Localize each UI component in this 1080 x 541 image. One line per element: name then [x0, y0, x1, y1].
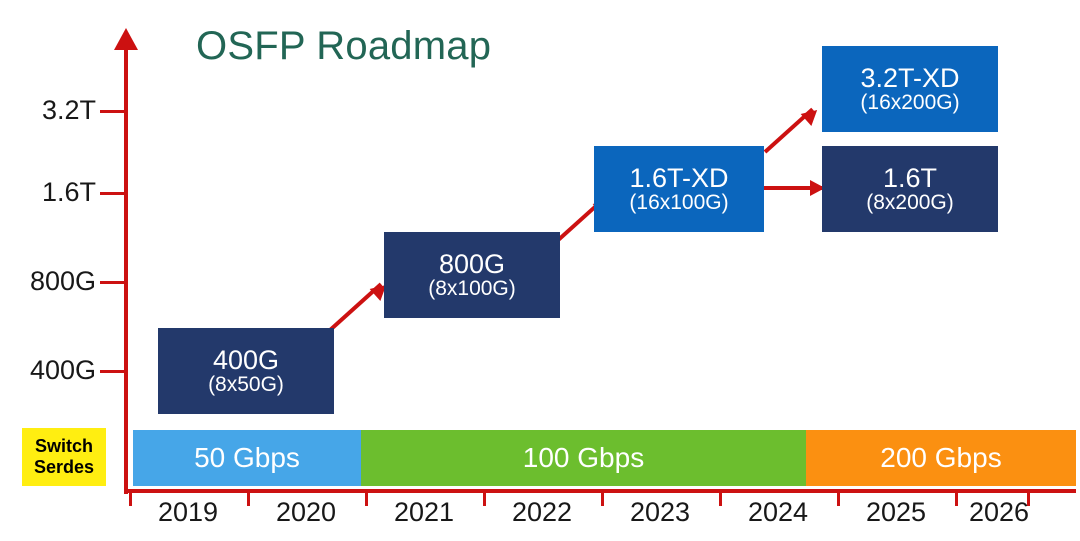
node-800g-subtitle: (8x100G): [428, 278, 516, 300]
y-label-1600: 1.6T: [42, 177, 96, 208]
node-box-1-6t-xd[interactable]: 1.6T-XD (16x100G): [594, 146, 764, 232]
node-400g-title: 400G: [213, 346, 279, 374]
node-1-6t-subtitle: (8x200G): [866, 192, 954, 214]
serdes-segment-200gbps[interactable]: 200 Gbps: [806, 430, 1076, 486]
switch-serdes-label: Switch Serdes: [22, 428, 106, 486]
node-1-6t-xd-title: 1.6T-XD: [629, 164, 728, 192]
node-400g-subtitle: (8x50G): [208, 374, 284, 396]
y-tick-400: [100, 370, 126, 373]
node-box-3-2t-xd[interactable]: 3.2T-XD (16x200G): [822, 46, 998, 132]
y-tick-1600: [100, 192, 126, 195]
x-label-2024: 2024: [719, 497, 837, 528]
y-axis-line: [124, 46, 128, 494]
x-label-2019: 2019: [129, 497, 247, 528]
switch-serdes-line2: Serdes: [34, 457, 94, 478]
node-3-2t-xd-subtitle: (16x200G): [860, 92, 959, 114]
node-1-6t-title: 1.6T: [883, 164, 937, 192]
y-label-400: 400G: [30, 355, 96, 386]
node-box-800g[interactable]: 800G (8x100G): [384, 232, 560, 318]
serdes-segment-200gbps-label: 200 Gbps: [880, 442, 1001, 474]
arrow-1-6txd-to-3-2txd-head: [801, 104, 823, 126]
y-label-800: 800G: [30, 266, 96, 297]
x-label-2022: 2022: [483, 497, 601, 528]
node-1-6t-xd-subtitle: (16x100G): [629, 192, 728, 214]
node-800g-title: 800G: [439, 250, 505, 278]
chart-title: OSFP Roadmap: [196, 24, 491, 69]
serdes-segment-50gbps-label: 50 Gbps: [194, 442, 300, 474]
y-tick-3200: [100, 110, 126, 113]
y-label-3200: 3.2T: [42, 95, 96, 126]
x-label-2021: 2021: [365, 497, 483, 528]
x-label-2026: 2026: [940, 497, 1058, 528]
y-tick-800: [100, 281, 126, 284]
x-label-2020: 2020: [247, 497, 365, 528]
switch-serdes-line1: Switch: [35, 436, 93, 457]
roadmap-chart: OSFP Roadmap 3.2T 1.6T 800G 400G 400G (8…: [0, 0, 1080, 541]
node-3-2t-xd-title: 3.2T-XD: [860, 64, 959, 92]
serdes-segment-100gbps[interactable]: 100 Gbps: [361, 430, 806, 486]
node-box-400g[interactable]: 400G (8x50G): [158, 328, 334, 414]
serdes-segment-50gbps[interactable]: 50 Gbps: [133, 430, 361, 486]
serdes-segment-100gbps-label: 100 Gbps: [523, 442, 644, 474]
node-box-1-6t[interactable]: 1.6T (8x200G): [822, 146, 998, 232]
x-label-2025: 2025: [837, 497, 955, 528]
x-label-2023: 2023: [601, 497, 719, 528]
